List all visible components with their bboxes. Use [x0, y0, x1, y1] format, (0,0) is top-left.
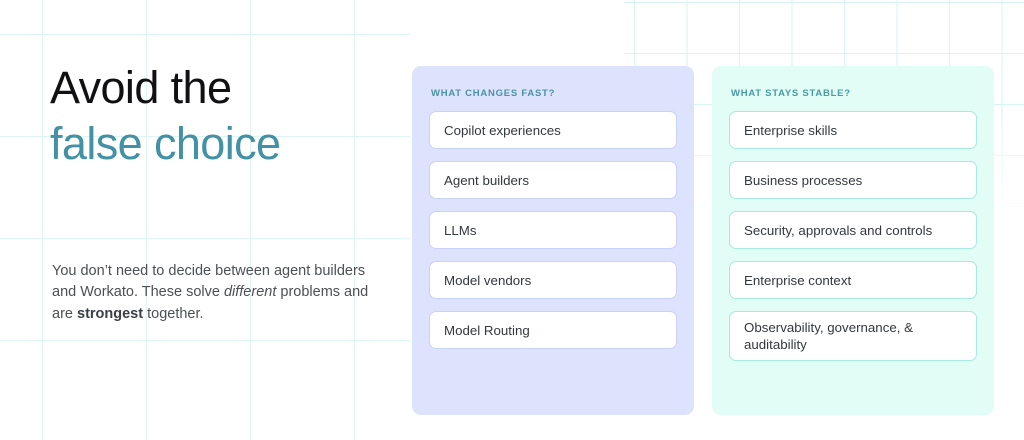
list-item[interactable]: LLMs [429, 211, 677, 249]
paragraph-part-3: together. [143, 306, 203, 322]
list-item[interactable]: Model vendors [429, 261, 677, 299]
list-item[interactable]: Security, approvals and controls [729, 211, 977, 249]
list-item[interactable]: Agent builders [429, 161, 677, 199]
list-item[interactable]: Enterprise context [729, 261, 977, 299]
paragraph-italic-different: different [224, 284, 276, 300]
panel-heading-changes-fast: WHAT CHANGES FAST? [431, 88, 677, 99]
slide-canvas: Avoid the false choice You don’t need to… [0, 0, 1024, 440]
intro-paragraph: You don’t need to decide between agent b… [52, 261, 382, 326]
list-item[interactable]: Business processes [729, 161, 977, 199]
panel-heading-stays-stable: WHAT STAYS STABLE? [731, 88, 977, 99]
page-title: Avoid the false choice [50, 60, 390, 172]
panel-what-stays-stable: WHAT STAYS STABLE? Enterprise skills Bus… [712, 66, 994, 415]
panel-what-changes-fast: WHAT CHANGES FAST? Copilot experiences A… [412, 66, 694, 415]
list-item[interactable]: Observability, governance, & auditabilit… [729, 311, 977, 361]
headline-line-2: false choice [50, 116, 390, 172]
list-item[interactable]: Model Routing [429, 311, 677, 349]
list-item[interactable]: Copilot experiences [429, 111, 677, 149]
list-item[interactable]: Enterprise skills [729, 111, 977, 149]
paragraph-bold-strongest: strongest [77, 306, 143, 322]
card-list-stays-stable: Enterprise skills Business processes Sec… [729, 111, 977, 361]
card-list-changes-fast: Copilot experiences Agent builders LLMs … [429, 111, 677, 349]
headline-line-1: Avoid the [50, 60, 390, 116]
